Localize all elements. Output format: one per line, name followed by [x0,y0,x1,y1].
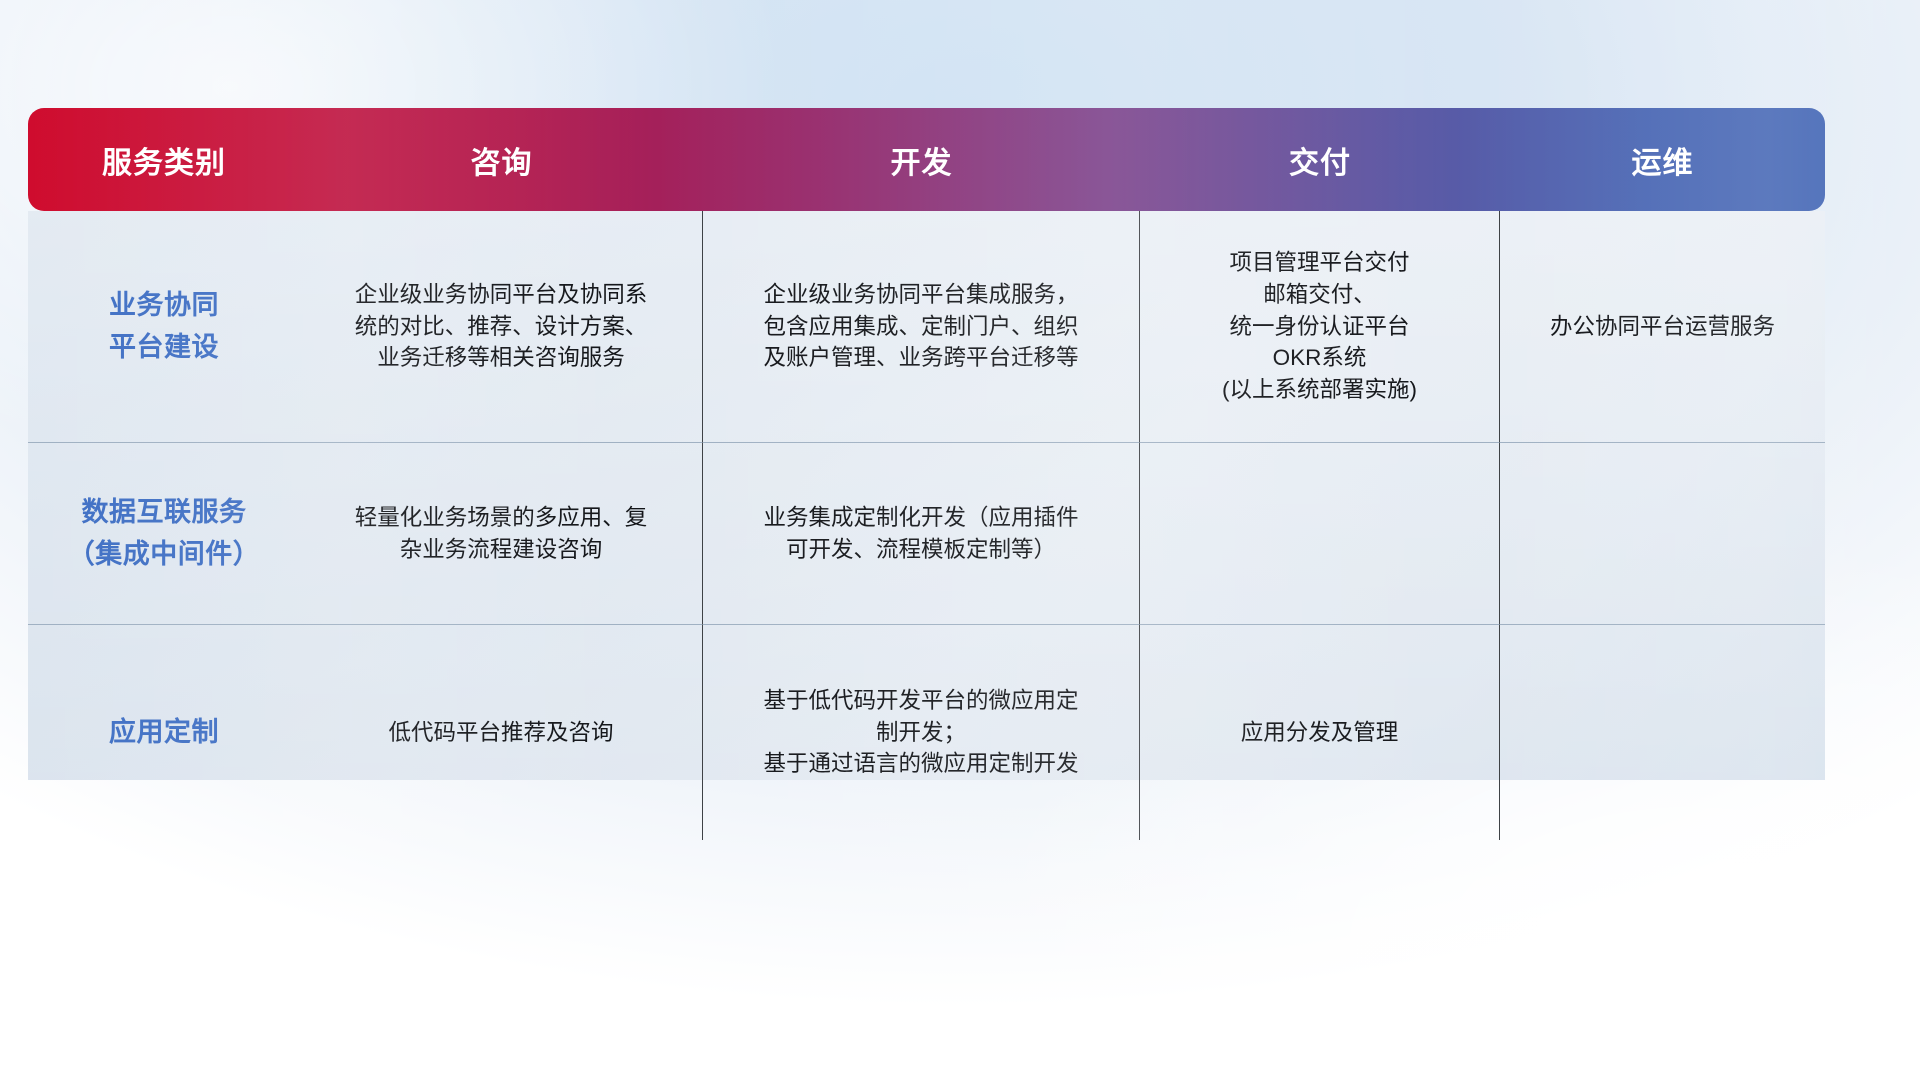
row-1-operations: 办公协同平台运营服务 [1500,211,1825,443]
row-3-category: 应用定制 [28,625,300,840]
row-3-delivery: 应用分发及管理 [1140,625,1500,840]
row-3-operations [1500,625,1825,840]
column-header-operations: 运维 [1500,138,1825,182]
column-header-development: 开发 [703,138,1140,182]
column-header-delivery: 交付 [1140,138,1500,182]
row-2-delivery [1140,443,1500,625]
row-2-development: 业务集成定制化开发（应用插件 可开发、流程模板定制等） [703,443,1140,625]
slide-canvas: 服务类别 咨询 开发 交付 运维 业务协同 平台建设 企业级业务协同平台及协同系… [0,0,1920,1080]
column-header-consulting: 咨询 [300,138,703,182]
row-1-category: 业务协同 平台建设 [28,211,300,443]
row-2-category: 数据互联服务 （集成中间件） [28,443,300,625]
row-3-development: 基于低代码开发平台的微应用定 制开发； 基于通过语言的微应用定制开发 [703,625,1140,840]
row-1-consulting: 企业级业务协同平台及协同系 统的对比、推荐、设计方案、 业务迁移等相关咨询服务 [300,211,703,443]
table-body-grid: 业务协同 平台建设 企业级业务协同平台及协同系 统的对比、推荐、设计方案、 业务… [28,211,1825,780]
row-3-consulting: 低代码平台推荐及咨询 [300,625,703,840]
service-matrix-table: 服务类别 咨询 开发 交付 运维 业务协同 平台建设 企业级业务协同平台及协同系… [28,108,1825,780]
row-2-operations [1500,443,1825,625]
table-header-row: 服务类别 咨询 开发 交付 运维 [28,108,1825,211]
row-2-consulting: 轻量化业务场景的多应用、复 杂业务流程建设咨询 [300,443,703,625]
row-1-development: 企业级业务协同平台集成服务， 包含应用集成、定制门户、组织 及账户管理、业务跨平… [703,211,1140,443]
column-header-service-category: 服务类别 [28,138,300,182]
row-1-delivery: 项目管理平台交付 邮箱交付、 统一身份认证平台 OKR系统 (以上系统部署实施) [1140,211,1500,443]
